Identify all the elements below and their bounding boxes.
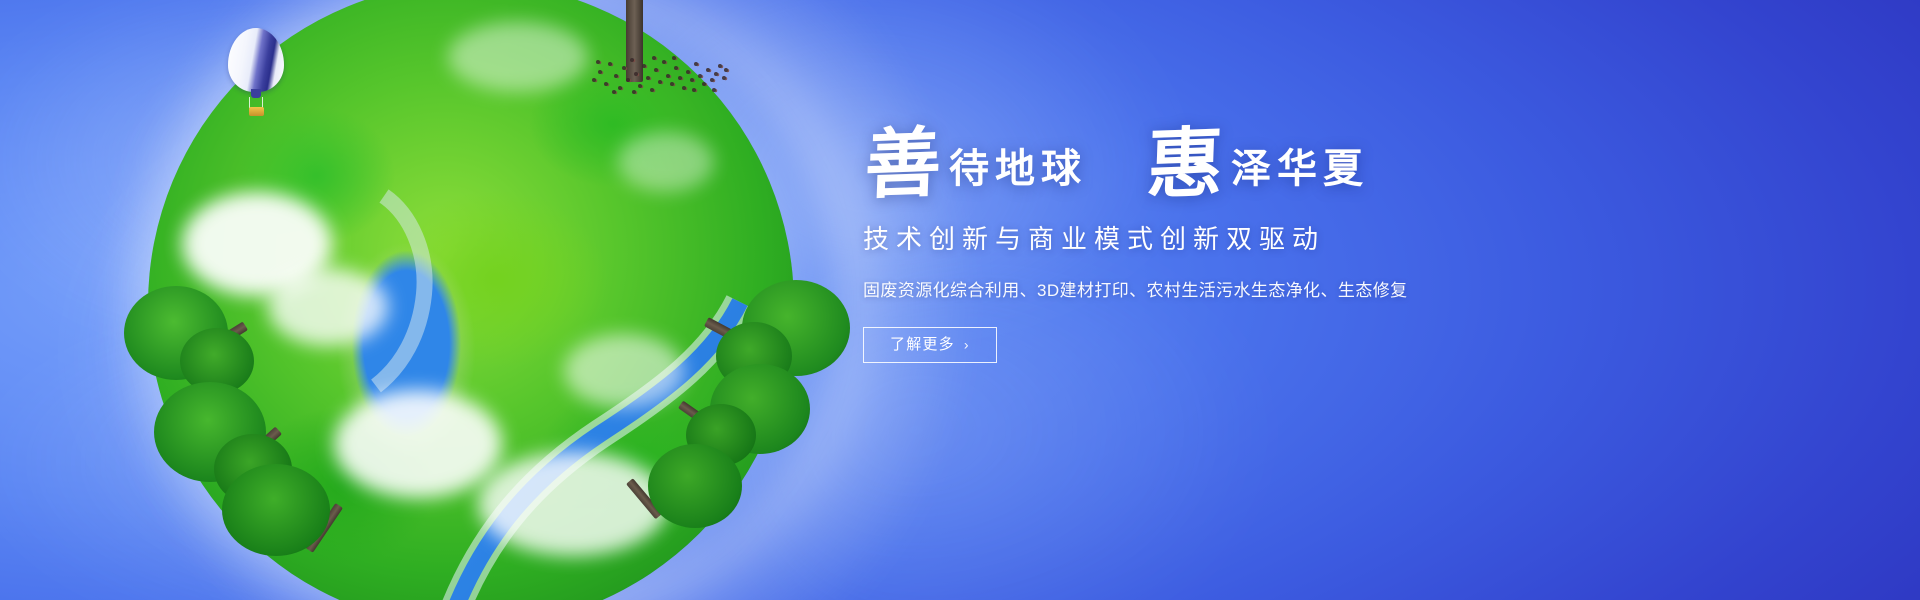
bird-icon — [710, 78, 714, 82]
bird-icon — [652, 56, 656, 60]
bird-icon — [630, 58, 634, 62]
bird-icon — [622, 66, 626, 70]
bird-icon — [712, 88, 716, 92]
bird-icon — [598, 70, 602, 74]
learn-more-button[interactable]: 了解更多 › — [863, 327, 997, 363]
bird-icon — [690, 78, 694, 82]
bird-icon — [702, 82, 706, 86]
bird-icon — [686, 70, 690, 74]
bird-icon — [670, 82, 674, 86]
bird-icon — [698, 74, 702, 78]
bird-icon — [592, 78, 596, 82]
hero-subtitle: 技术创新与商业模式创新双驱动 — [863, 219, 1563, 256]
bird-icon — [612, 90, 616, 94]
bird-icon — [654, 68, 658, 72]
bird-icon — [614, 74, 618, 78]
bird-icon — [674, 66, 678, 70]
bird-icon — [646, 76, 650, 80]
bird-icon — [692, 88, 696, 92]
bird-icon — [714, 72, 718, 76]
bird-icon — [634, 72, 638, 76]
surface-cloud — [268, 268, 388, 346]
bird-icon — [604, 82, 608, 86]
bird-icon — [678, 76, 682, 80]
hero-banner: 善 待地球 惠 泽华夏 技术创新与商业模式创新双驱动 固废资源化综合利用、3D建… — [0, 0, 1920, 600]
headline-char-shan: 善 — [862, 127, 945, 203]
chevron-right-icon: › — [964, 337, 970, 351]
bird-icon — [706, 68, 710, 72]
hero-copy: 善 待地球 惠 泽华夏 技术创新与商业模式创新双驱动 固废资源化综合利用、3D建… — [863, 128, 1563, 363]
headline-rest-two: 泽华夏 — [1225, 137, 1369, 201]
bird-icon — [722, 76, 726, 80]
bird-icon — [638, 84, 642, 88]
bird-icon — [608, 62, 612, 66]
surface-cloud — [618, 132, 714, 192]
bird-icon — [626, 78, 630, 82]
tree-icon — [618, 444, 748, 556]
bird-icon — [662, 60, 666, 64]
hero-description: 固废资源化综合利用、3D建材打印、农村生活污水生态净化、生态修复 — [863, 276, 1563, 301]
bird-icon — [666, 74, 670, 78]
bird-icon — [618, 86, 622, 90]
bird-icon — [596, 60, 600, 64]
bird-icon — [650, 88, 654, 92]
hot-air-balloon-icon — [228, 28, 284, 120]
tree-icon — [218, 464, 368, 594]
bird-flock-icon — [588, 48, 728, 92]
bird-icon — [672, 56, 676, 60]
learn-more-label: 了解更多 — [890, 337, 955, 352]
bird-icon — [694, 62, 698, 66]
headline-char-hui: 惠 — [1144, 127, 1227, 203]
bird-icon — [724, 68, 728, 72]
bird-icon — [682, 86, 686, 90]
bird-icon — [642, 64, 646, 68]
bird-icon — [632, 90, 636, 94]
surface-cloud — [564, 334, 684, 408]
page-title: 善 待地球 惠 泽华夏 — [863, 128, 1563, 201]
bird-icon — [658, 80, 662, 84]
headline-rest-one: 待地球 — [943, 137, 1087, 201]
bird-icon — [718, 64, 722, 68]
